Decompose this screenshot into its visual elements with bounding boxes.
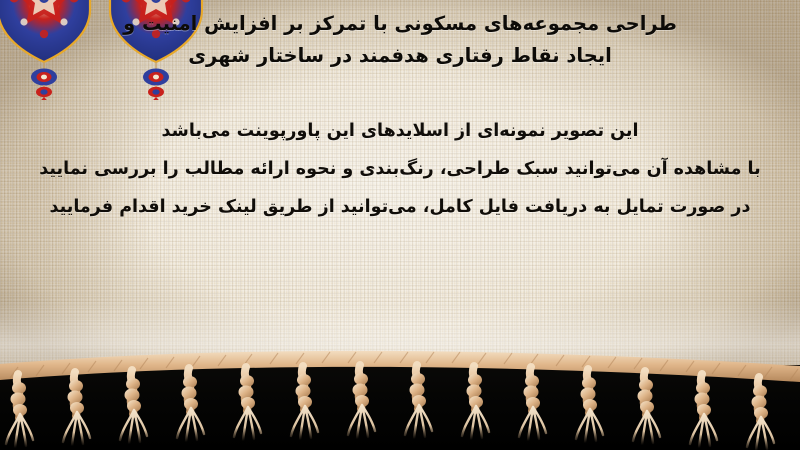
slide-title-line-2: ایجاد نقاط رفتاری هدفمند در ساختار شهری xyxy=(36,40,764,72)
tassel-group xyxy=(6,365,774,450)
slide-title: طراحی مجموعه‌های مسکونی با تمرکز بر افزا… xyxy=(36,8,764,71)
presentation-slide: طراحی مجموعه‌های مسکونی با تمرکز بر افزا… xyxy=(0,0,800,450)
tassel-fringe-border xyxy=(0,330,800,450)
slide-body-line-2: با مشاهده آن می‌توانید سبک طراحی، رنگ‌بن… xyxy=(30,150,770,188)
slide-body-line-3: در صورت تمایل به دریافت فایل کامل، می‌تو… xyxy=(30,188,770,226)
slide-title-line-1: طراحی مجموعه‌های مسکونی با تمرکز بر افزا… xyxy=(36,8,764,40)
fringe-tassels-icon xyxy=(0,330,800,450)
slide-body-line-1: این تصویر نمونه‌ای از اسلایدهای این پاور… xyxy=(30,112,770,150)
slide-body-text: این تصویر نمونه‌ای از اسلایدهای این پاور… xyxy=(30,112,770,226)
